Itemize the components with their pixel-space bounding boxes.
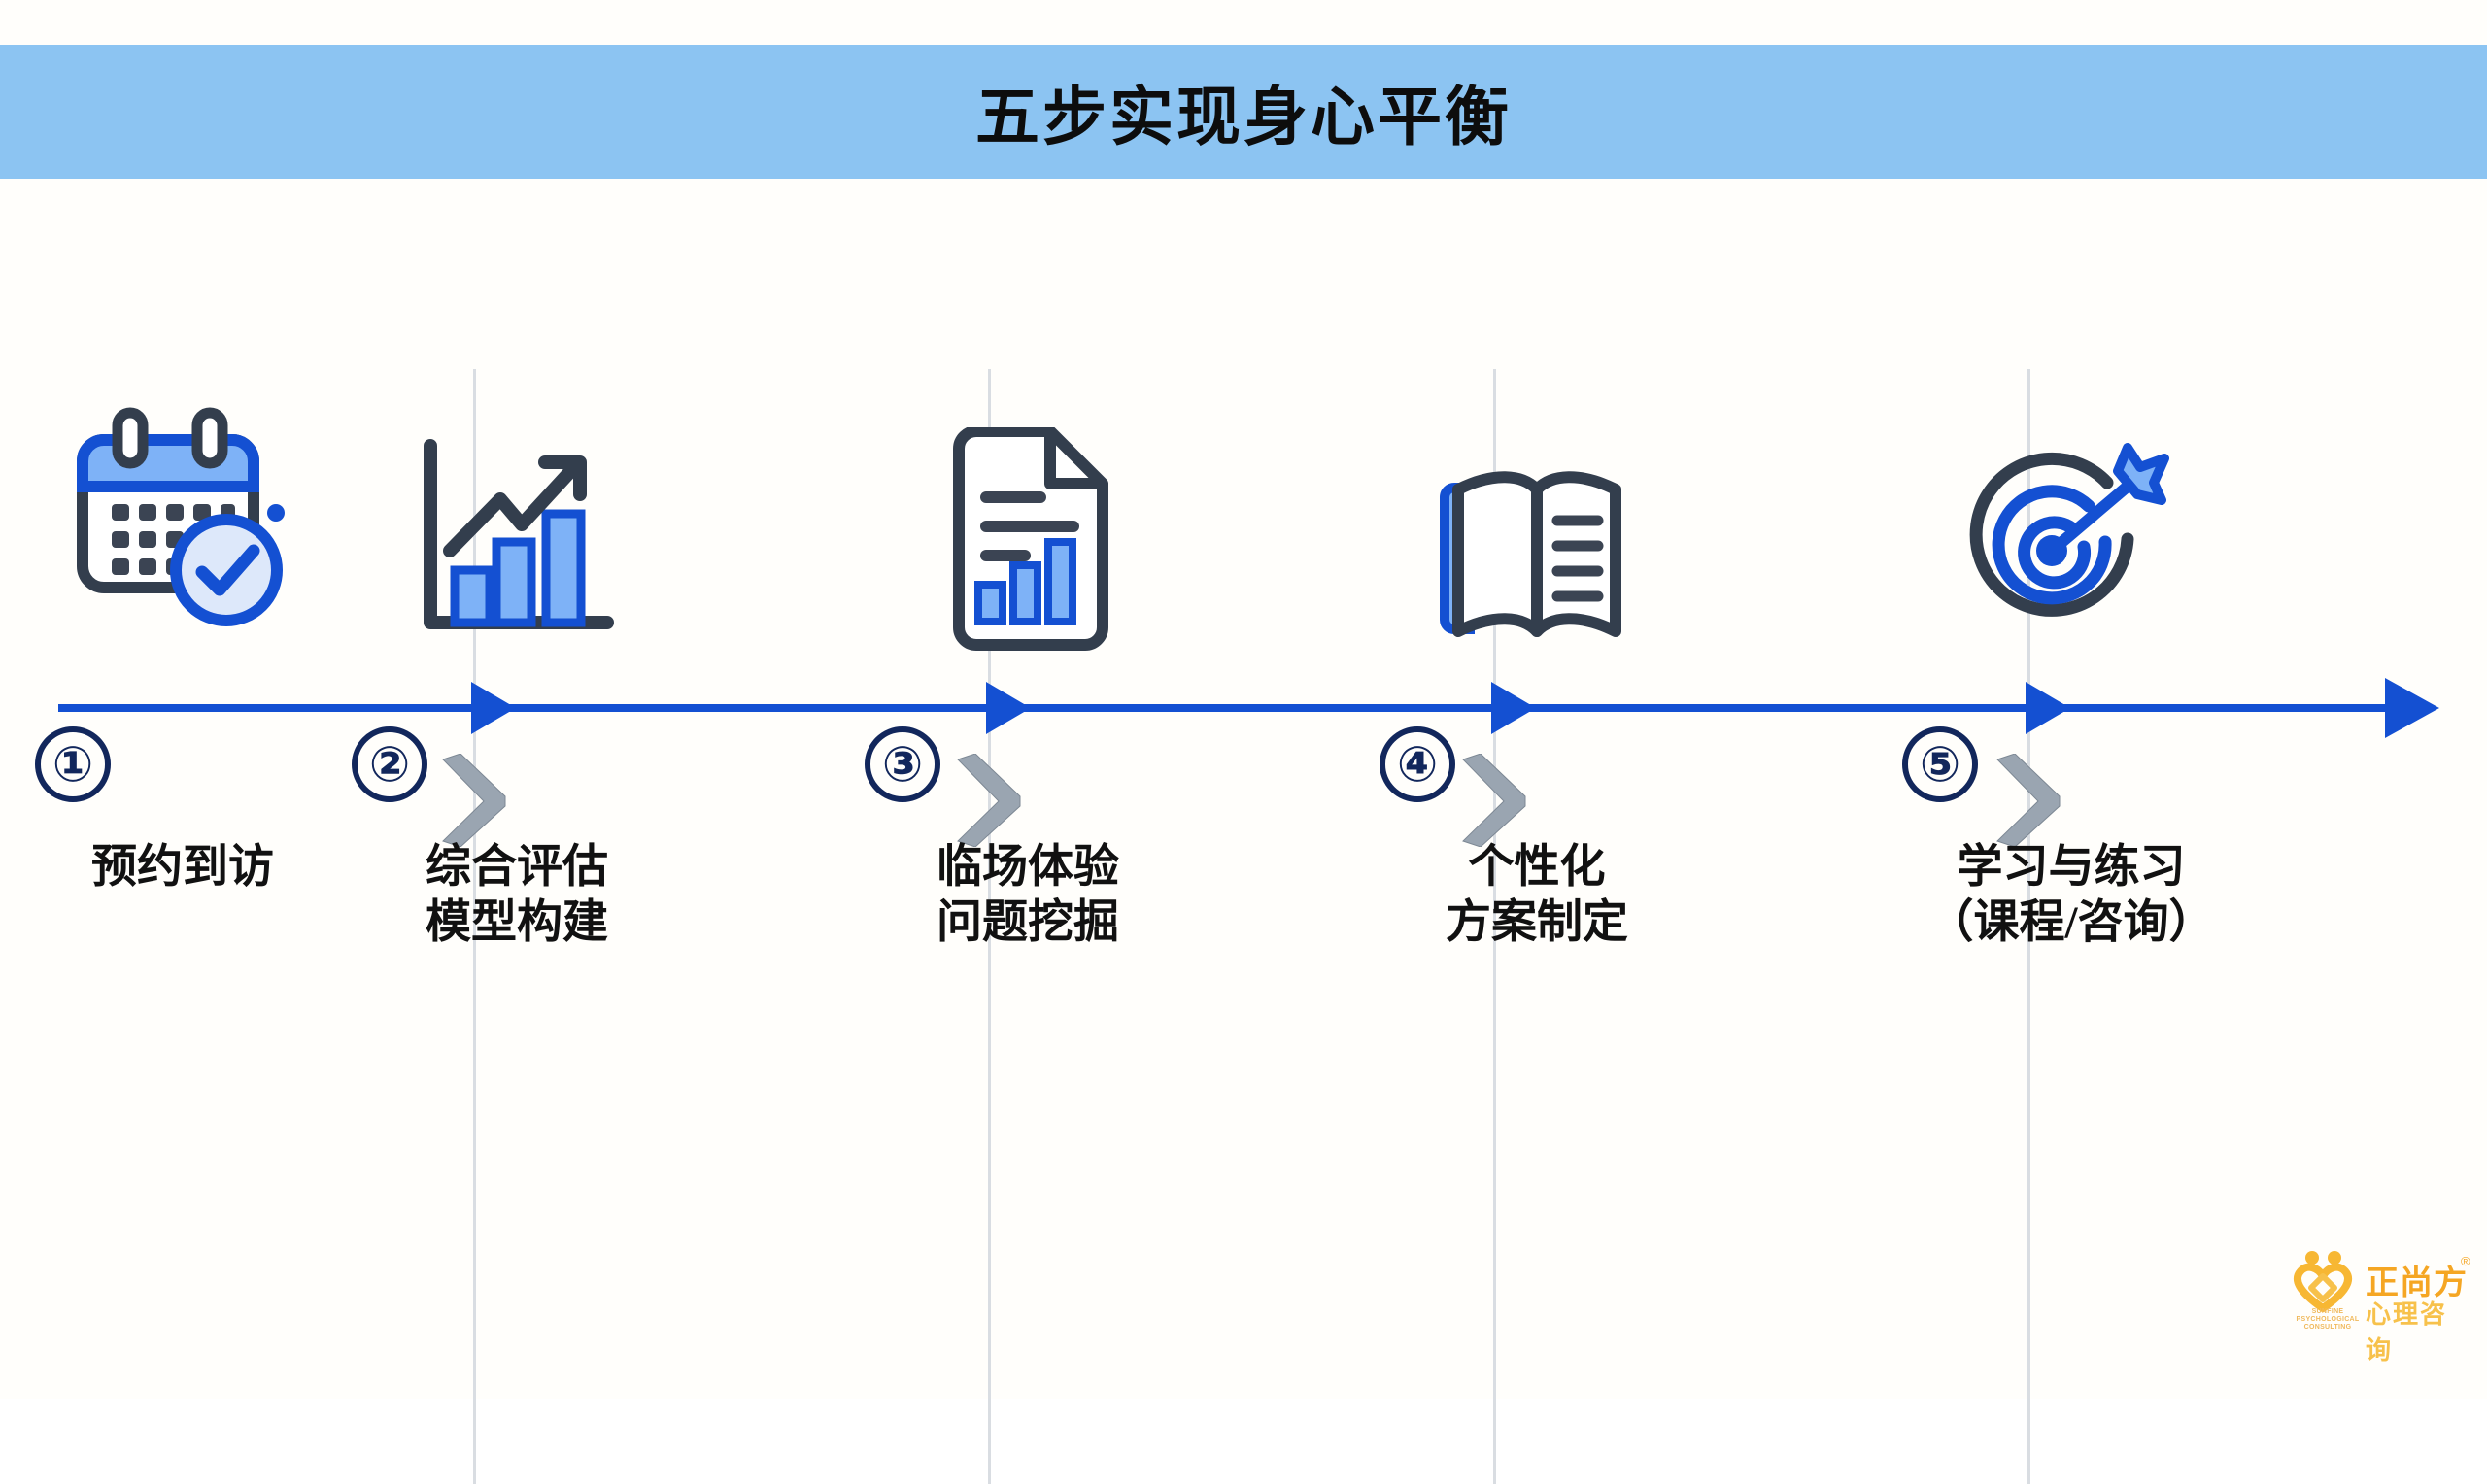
open-book-icon bbox=[1333, 369, 1741, 651]
process-step-2[interactable]: ② 综合评估 模型构建 bbox=[313, 369, 721, 1146]
step-number-5: ⑤ bbox=[1902, 726, 1978, 802]
target-dart-icon bbox=[1867, 369, 2275, 651]
page-title: 五步实现身心平衡 bbox=[975, 65, 1512, 158]
step-label-2: 综合评估 模型构建 bbox=[313, 840, 721, 952]
step-label-5: 学习与练习 （课程/咨询） bbox=[1867, 840, 2275, 952]
bar-chart-growth-icon bbox=[313, 369, 721, 651]
process-step-4[interactable]: ④ 个性化 方案制定 bbox=[1333, 369, 1741, 1146]
timeline-arrowhead-end bbox=[2385, 678, 2439, 738]
registered-trademark-icon: ® bbox=[2461, 1254, 2470, 1268]
logo-brand-subtitle: 心理咨询 bbox=[2366, 1295, 2472, 1366]
infographic-stage: ① 预约到访 ② 综合评估 模型构建 bbox=[0, 179, 2487, 1399]
brand-logo: SUNFINE PSYCHOLOGICAL CONSULTING 正尚方 ® 心… bbox=[2288, 1248, 2472, 1340]
step-number-2: ② bbox=[352, 726, 427, 802]
document-report-icon bbox=[824, 369, 1232, 651]
process-step-5[interactable]: ⑤ 学习与练习 （课程/咨询） bbox=[1867, 369, 2275, 1146]
step-label-4: 个性化 方案制定 bbox=[1333, 840, 1741, 952]
process-step-3[interactable]: ③ 临场体验 问题挖掘 bbox=[824, 369, 1232, 1146]
title-banner: 五步实现身心平衡 bbox=[0, 45, 2487, 179]
step-number-3: ③ bbox=[865, 726, 940, 802]
step-number-4: ④ bbox=[1380, 726, 1455, 802]
step-label-3: 临场体验 问题挖掘 bbox=[824, 840, 1232, 952]
step-number-1: ① bbox=[35, 726, 111, 802]
logo-english-caption: SUNFINE PSYCHOLOGICAL CONSULTING bbox=[2290, 1308, 2366, 1332]
